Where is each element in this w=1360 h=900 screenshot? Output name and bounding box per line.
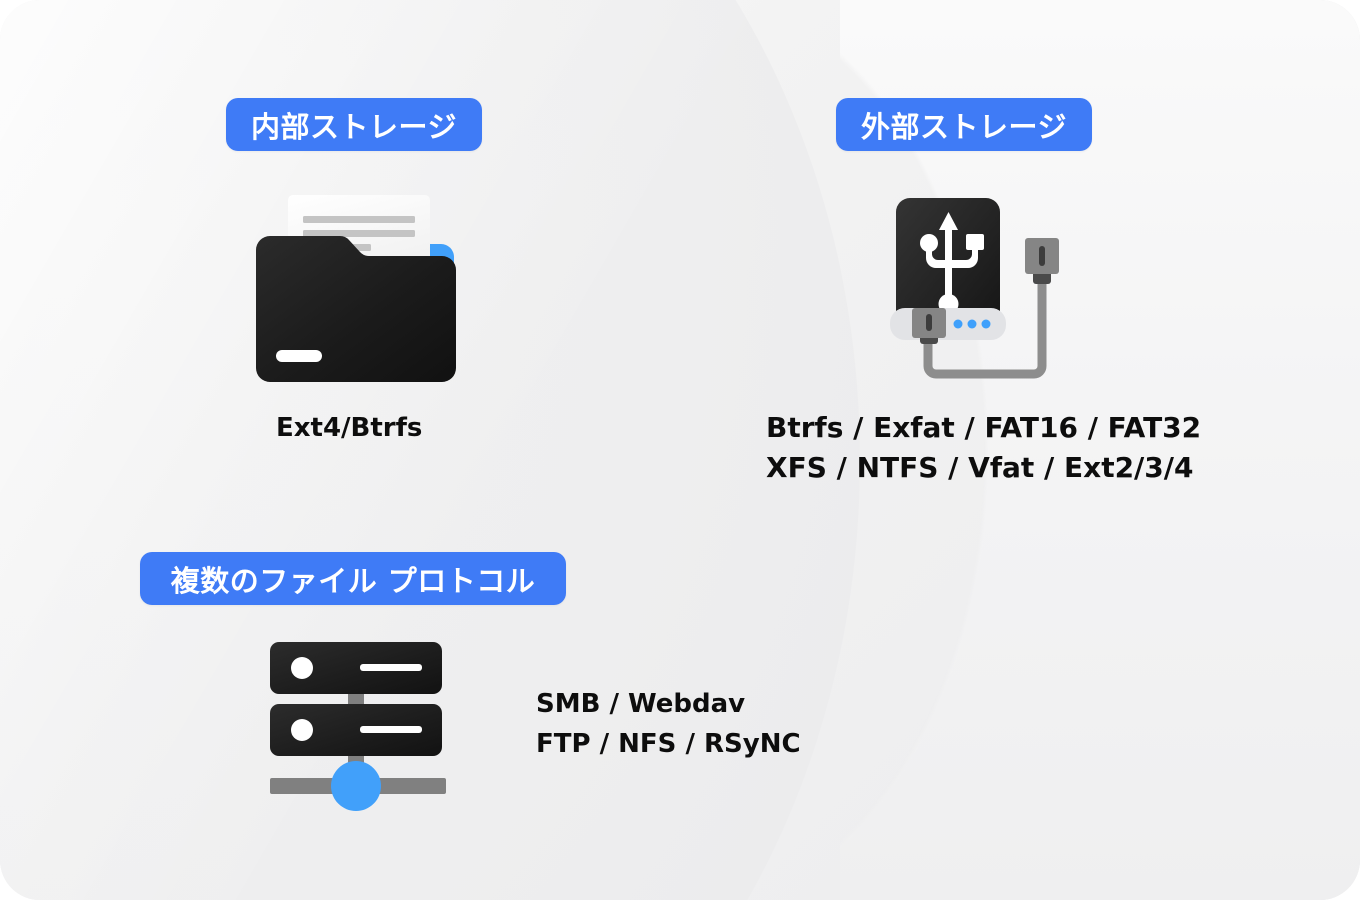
infographic-canvas: 内部ストレージ xyxy=(0,0,1360,900)
usb-led-2 xyxy=(968,320,977,329)
folder-handle-slot xyxy=(276,350,322,362)
usb-led-3 xyxy=(982,320,991,329)
badge-external-storage: 外部ストレージ xyxy=(836,98,1092,151)
server-led-top xyxy=(291,657,313,679)
badge-file-protocols: 複数のファイル プロトコル xyxy=(140,552,566,605)
network-node-dot xyxy=(331,761,381,811)
usb-external-drive-icon xyxy=(890,190,1060,385)
usb-plug-bottom-slot xyxy=(926,314,932,331)
server-network-icon xyxy=(266,638,456,823)
caption-protocol-list: SMB / Webdav FTP / NFS / RSyNC xyxy=(536,684,801,764)
badge-internal-storage: 内部ストレージ xyxy=(226,98,482,151)
server-slot-bottom xyxy=(360,726,422,733)
caption-internal-filesystems: Ext4/Btrfs xyxy=(276,408,422,448)
usb-led-1 xyxy=(954,320,963,329)
document-line-2 xyxy=(303,230,415,237)
server-led-bottom xyxy=(291,719,313,741)
folder-with-document-icon xyxy=(256,190,456,385)
caption-external-filesystems: Btrfs / Exfat / FAT16 / FAT32 XFS / NTFS… xyxy=(766,408,1201,488)
usb-plug-top-slot xyxy=(1039,246,1045,266)
document-line-1 xyxy=(303,216,415,223)
server-slot-top xyxy=(360,664,422,671)
